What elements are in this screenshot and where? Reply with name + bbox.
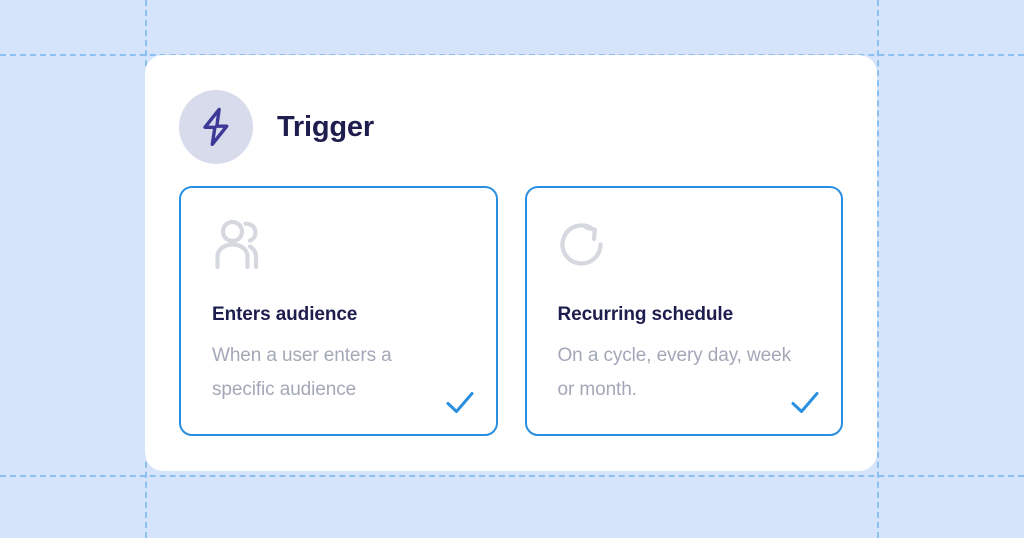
- option-card-recurring-schedule[interactable]: Recurring schedule On a cycle, every day…: [525, 186, 844, 436]
- option-card-enters-audience[interactable]: Enters audience When a user enters a spe…: [179, 186, 498, 436]
- trigger-panel: Trigger Enters audience When a user ente…: [145, 55, 877, 471]
- check-icon: [443, 386, 477, 420]
- option-heading: Enters audience: [212, 304, 468, 326]
- option-heading: Recurring schedule: [558, 304, 814, 326]
- lightning-bolt-icon: [199, 107, 233, 147]
- trigger-badge: [179, 90, 253, 164]
- option-icon-wrapper: [212, 219, 468, 281]
- option-icon-wrapper: [558, 219, 814, 281]
- guide-line-vertical-right: [877, 0, 879, 538]
- recurring-refresh-icon: [558, 219, 614, 271]
- option-description: On a cycle, every day, week or month.: [558, 339, 798, 407]
- check-icon: [788, 386, 822, 420]
- option-description: When a user enters a specific audience: [212, 339, 452, 407]
- trigger-options-list: Enters audience When a user enters a spe…: [179, 186, 843, 436]
- guide-line-horizontal-bottom: [0, 475, 1024, 477]
- panel-header: Trigger: [179, 89, 843, 165]
- people-icon: [212, 219, 268, 271]
- page-title: Trigger: [277, 113, 374, 142]
